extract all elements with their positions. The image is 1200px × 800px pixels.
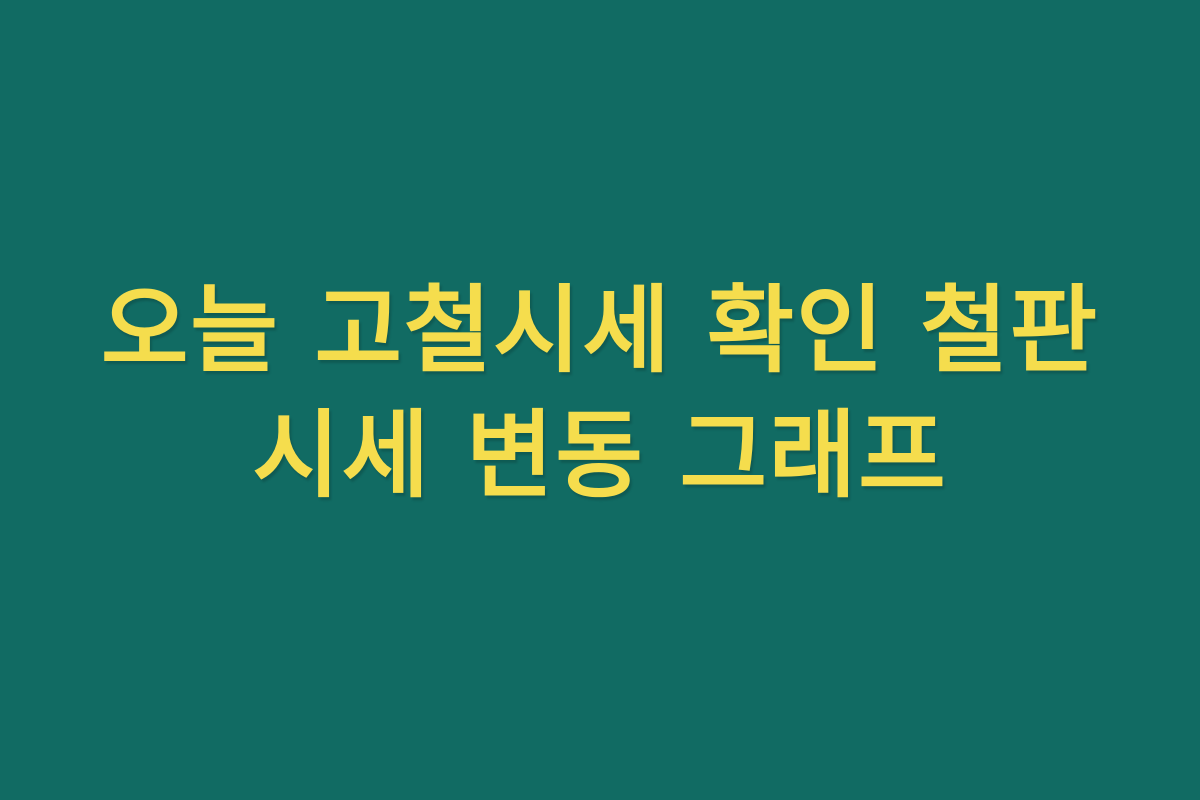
- thumbnail-card: 오늘 고철시세 확인 철판 시세 변동 그래프: [0, 0, 1200, 800]
- title-line-2: 시세 변동 그래프: [252, 394, 947, 519]
- title-block: 오늘 고철시세 확인 철판 시세 변동 그래프: [50, 269, 1150, 520]
- title-line-1: 오늘 고철시세 확인 철판: [101, 269, 1099, 394]
